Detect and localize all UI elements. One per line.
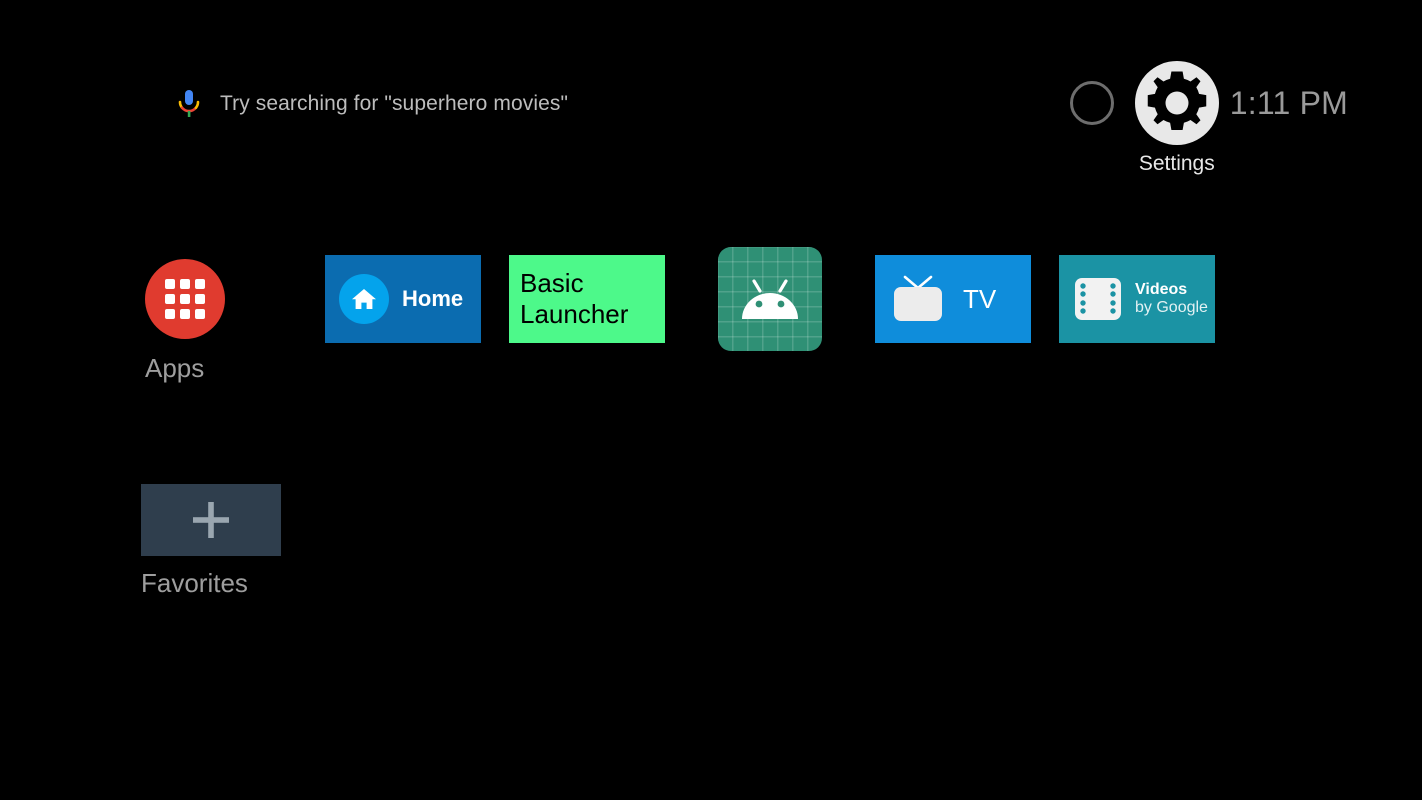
home-icon [339, 274, 389, 324]
apps-grid-icon [145, 259, 225, 339]
app-tile-videos[interactable]: Videos by Google [1059, 255, 1215, 343]
status-cluster: Settings 1:11 PM [1070, 78, 1348, 128]
empty-circle-icon[interactable] [1070, 81, 1114, 125]
android-robot-icon [738, 275, 802, 325]
app-tile-tv[interactable]: TV [875, 255, 1031, 343]
settings-label: Settings [1139, 152, 1215, 176]
gear-icon [1133, 59, 1221, 147]
basic-launcher-label-line2: Launcher [520, 299, 628, 330]
settings-button[interactable]: Settings [1132, 58, 1222, 148]
add-favorite-button[interactable] [141, 484, 281, 556]
apps-row: Apps Home Basic Launcher TV [145, 255, 1215, 384]
app-tile-home[interactable]: Home [325, 255, 481, 343]
basic-launcher-label-line1: Basic [520, 268, 584, 299]
app-tile-android[interactable] [718, 247, 822, 351]
apps-launcher-button[interactable]: Apps [145, 255, 325, 384]
app-tile-home-label: Home [402, 286, 463, 312]
tv-icon [891, 273, 947, 325]
google-mic-icon [176, 88, 202, 120]
app-tile-basic-launcher[interactable]: Basic Launcher [509, 255, 665, 343]
favorites-row: Favorites [141, 484, 281, 599]
plus-icon [190, 499, 232, 541]
app-tile-videos-text: Videos by Google [1135, 281, 1208, 317]
favorites-label: Favorites [141, 568, 281, 599]
app-tile-videos-label: Videos [1135, 281, 1208, 299]
app-tile-videos-sublabel: by Google [1135, 299, 1208, 317]
search-bar[interactable]: Try searching for "superhero movies" [176, 86, 568, 122]
apps-launcher-label: Apps [145, 353, 325, 384]
clock-text: 1:11 PM [1230, 85, 1348, 122]
film-strip-icon [1074, 277, 1122, 321]
search-hint-text: Try searching for "superhero movies" [220, 92, 568, 116]
app-tile-tv-label: TV [963, 284, 996, 315]
